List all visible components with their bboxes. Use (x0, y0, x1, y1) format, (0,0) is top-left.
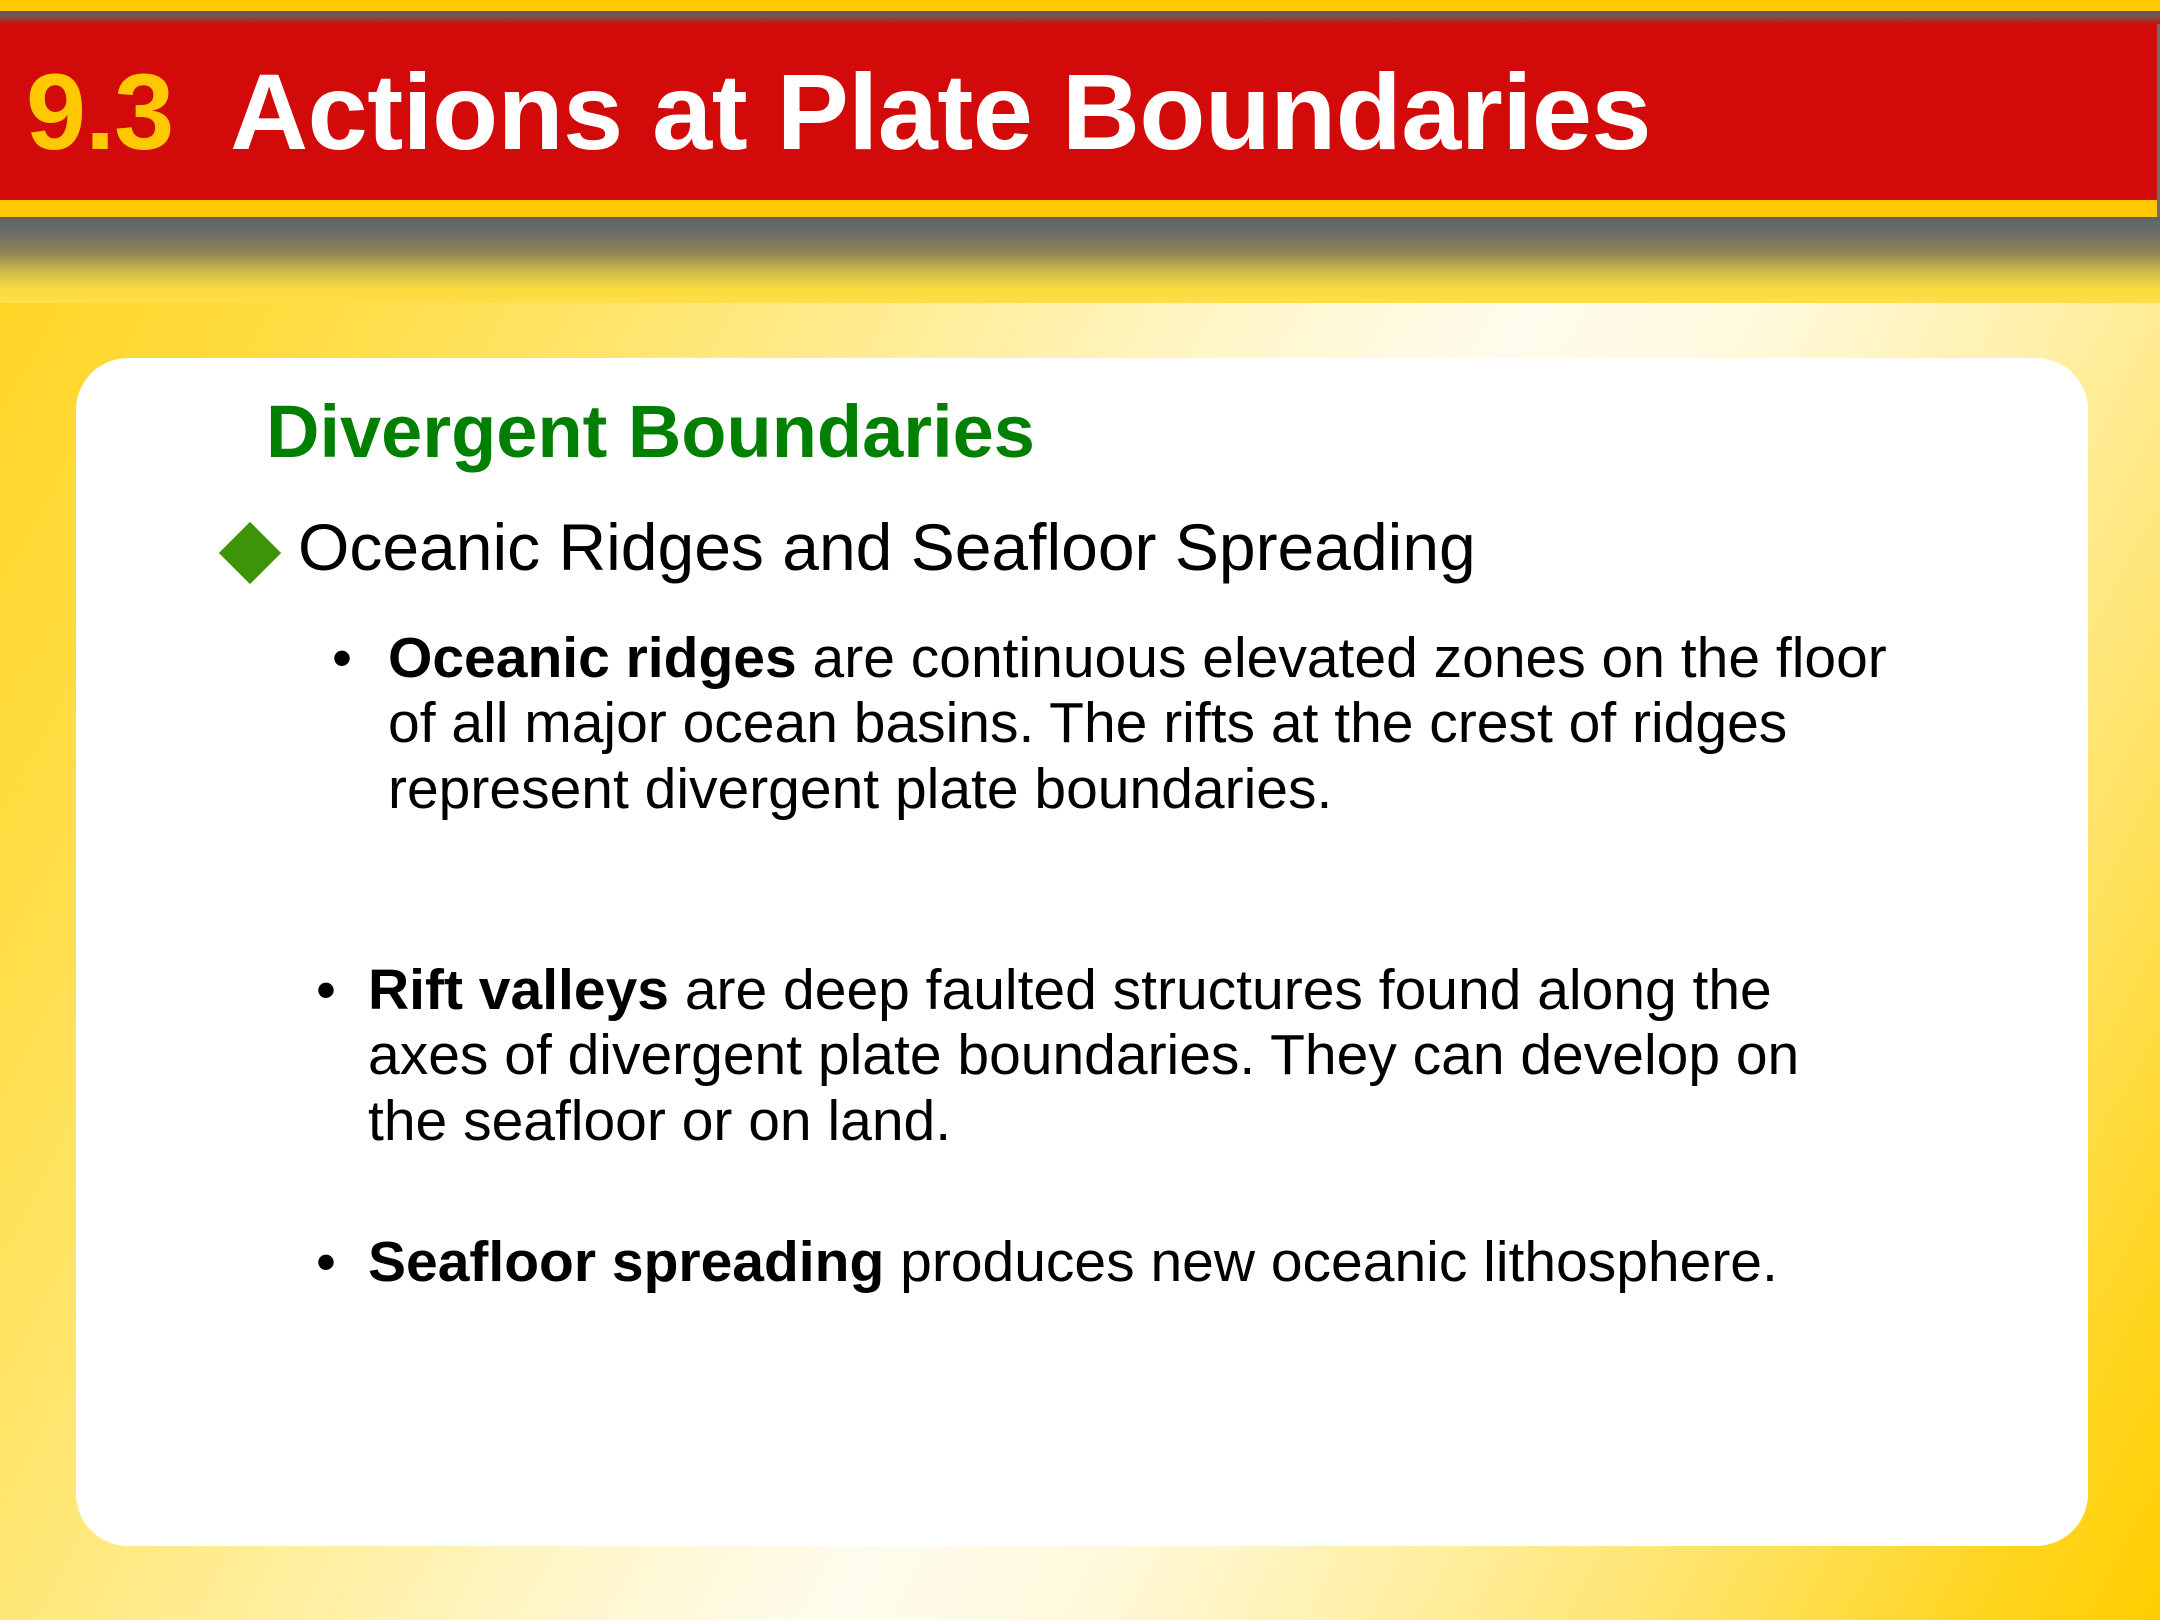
dot-bullet-icon: • (316, 958, 336, 1023)
dot-bullet-icon: • (332, 626, 352, 691)
section-number: 9.3 (26, 58, 173, 166)
level2-bullet-text-3: Seafloor spreading produces new oceanic … (368, 1230, 1876, 1295)
level2-bullet-item-3: • Seafloor spreading produces new oceani… (316, 1230, 1876, 1295)
content-card-inner: Divergent Boundaries Oceanic Ridges and … (76, 358, 2088, 1546)
level2-bullet-term-3: Seafloor spreading (368, 1230, 884, 1294)
level2-bullet-text-1: Oceanic ridges are continuous elevated z… (388, 626, 1892, 822)
level2-bullet-item-1: • Oceanic ridges are continuous elevated… (332, 626, 1892, 822)
level2-bullet-term-2: Rift valleys (368, 958, 669, 1022)
section-heading: Divergent Boundaries (266, 393, 1035, 471)
slide: 9.3 Actions at Plate Boundaries Divergen… (0, 0, 2160, 1620)
slide-header-banner: 9.3 Actions at Plate Boundaries (0, 24, 2157, 200)
banner-fade-gradient (0, 225, 2160, 303)
level2-bullet-text-2: Rift valleys are deep faulted structures… (368, 958, 1876, 1154)
banner-gold-underline (0, 200, 2157, 217)
top-shadow-stripe (0, 11, 2160, 24)
diamond-bullet-icon (219, 522, 281, 584)
page-title: Actions at Plate Boundaries (230, 58, 1651, 166)
top-gold-accent-stripe (0, 0, 2160, 11)
content-card: Divergent Boundaries Oceanic Ridges and … (76, 358, 2088, 1546)
level1-bullet-item: Oceanic Ridges and Seafloor Spreading (228, 512, 1476, 583)
banner-gray-underline (0, 217, 2160, 225)
level2-bullet-term-1: Oceanic ridges (388, 626, 797, 690)
level2-bullet-detail-3: produces new oceanic lithosphere. (884, 1230, 1778, 1294)
level1-bullet-label: Oceanic Ridges and Seafloor Spreading (298, 512, 1476, 583)
dot-bullet-icon: • (316, 1230, 336, 1295)
level2-bullet-item-2: • Rift valleys are deep faulted structur… (316, 958, 1876, 1154)
